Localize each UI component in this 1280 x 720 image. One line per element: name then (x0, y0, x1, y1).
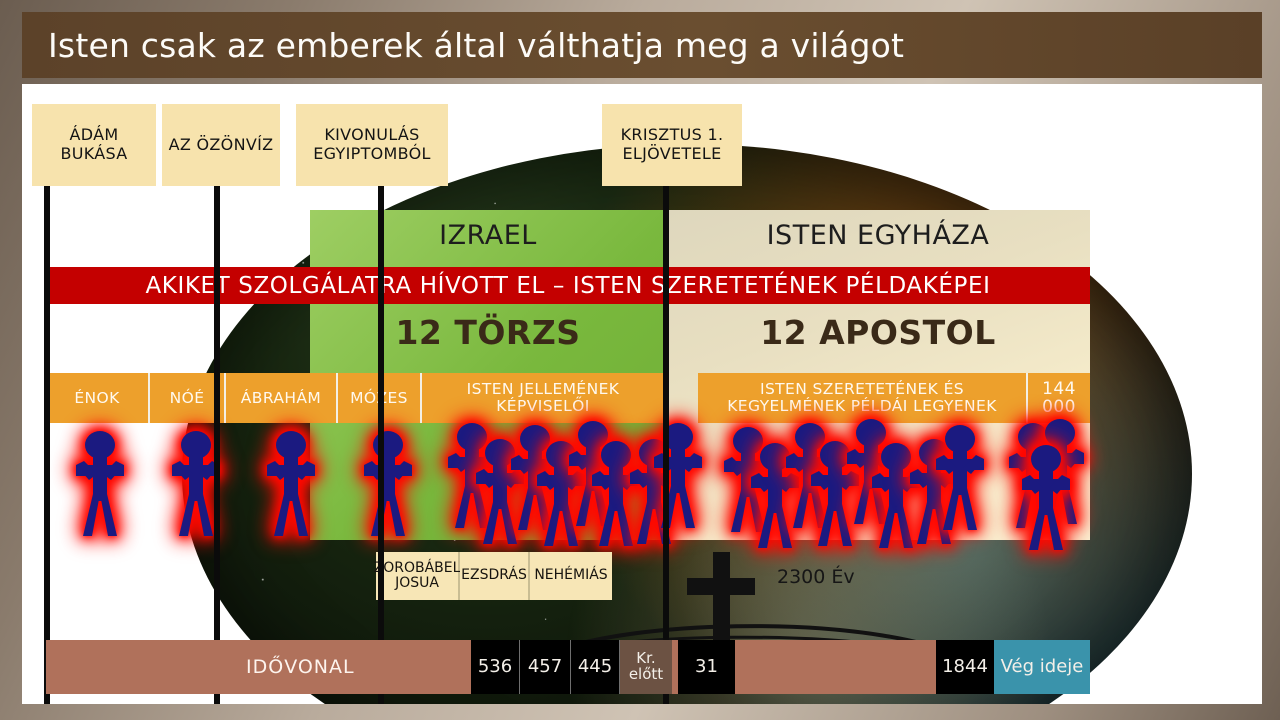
stick-figure (362, 428, 414, 540)
slide-root: Isten csak az emberek által válthatja me… (0, 0, 1280, 720)
stick-figure (652, 420, 704, 532)
timeline-cell-veg-ideje: Vég ideje (994, 640, 1090, 694)
timeline-label: IDŐVONAL (246, 640, 355, 694)
timeline-cell-1844: 1844 (936, 640, 994, 694)
slide-canvas: IZRAEL ISTEN EGYHÁZA AKIKET SZOLGÁLATRA … (22, 84, 1262, 704)
small-box-ezsdras: EZSDRÁS (460, 552, 530, 600)
page-title: Isten csak az emberek által válthatja me… (22, 26, 904, 65)
title-bar: Isten csak az emberek által válthatja me… (22, 12, 1262, 78)
heading-12-apostol: 12 APOSTOL (666, 306, 1090, 358)
event-line-ozonviz (214, 186, 220, 704)
small-box-nehemias: NEHÉMIÁS (530, 552, 612, 600)
event-line-kivonulas (378, 186, 384, 704)
orange-box-enok: ÉNOK (46, 373, 150, 423)
callout-adam-bukasa: ÁDÁM BUKÁSA (32, 104, 156, 186)
small-box-zorobabel: ZOROBÁBEL JOSUA (376, 552, 460, 600)
stick-figure (74, 428, 126, 540)
orange-box-jellem: ISTEN JELLEMÉNEK KÉPVISELŐI (422, 373, 666, 423)
heading-12-torzs: 12 TÖRZS (310, 306, 666, 358)
era-label-izrael: IZRAEL (310, 212, 666, 258)
arc-label-2300-years: 2300 Év (777, 566, 855, 588)
callout-kivonulas-egyiptombol: KIVONULÁS EGYIPTOMBÓL (296, 104, 448, 186)
timeline-bar: IDŐVONAL 536 457 445 Kr. előtt 3 (46, 640, 1090, 694)
callout-az-ozonviz: AZ ÖZÖNVÍZ (162, 104, 280, 186)
timeline-cell-457: 457 (520, 640, 571, 694)
orange-box-abraham: ÁBRAHÁM (226, 373, 338, 423)
stick-figure (1020, 442, 1072, 554)
timeline-cell-536: 536 (471, 640, 520, 694)
callout-krisztus-eljovetele: KRISZTUS 1. ELJÖVETELE (602, 104, 742, 186)
event-line-krisztus (663, 186, 669, 704)
people-figures-group (22, 424, 1262, 554)
red-banner: AKIKET SZOLGÁLATRA HÍVOTT EL – ISTEN SZE… (46, 267, 1090, 304)
timeline-cell-kr-elott: Kr. előtt (620, 640, 672, 694)
stick-figure (934, 422, 986, 534)
era-label-church: ISTEN EGYHÁZA (666, 212, 1090, 258)
red-banner-text: AKIKET SZOLGÁLATRA HÍVOTT EL – ISTEN SZE… (145, 273, 990, 299)
timeline-cell-31: 31 (678, 640, 735, 694)
stick-figure (265, 428, 317, 540)
timeline-cell-445: 445 (571, 640, 620, 694)
event-line-adam (44, 186, 50, 704)
